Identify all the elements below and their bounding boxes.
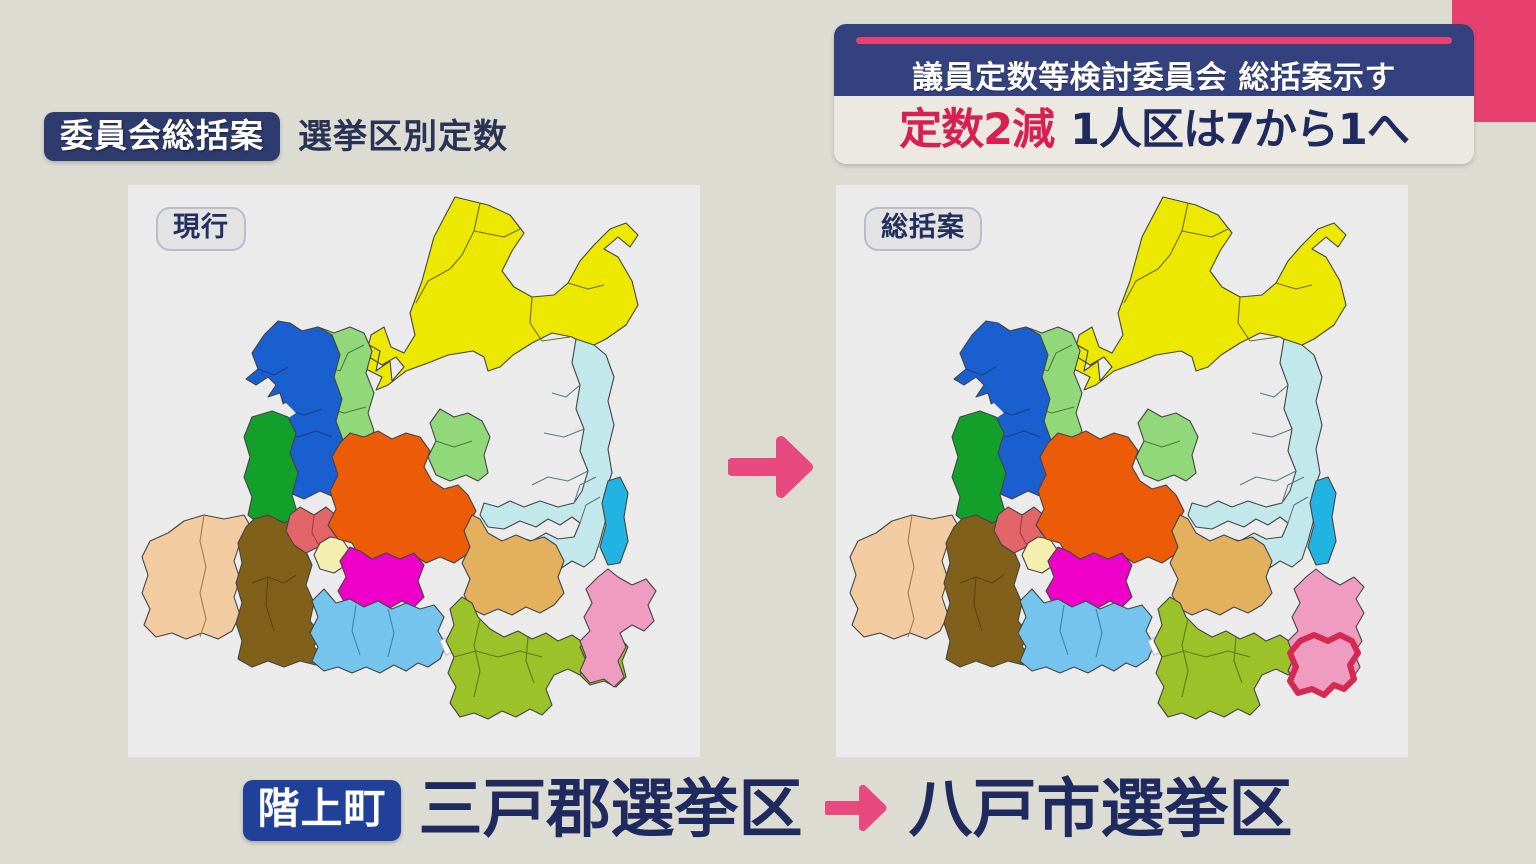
region-shimokita-div5 [1250,337,1278,341]
broadcast-graphic: 議員定数等検討委員会 総括案示す 定数2減 1人区は7から1へ 委員会総括案 選… [0,0,1536,864]
section-title-chip: 委員会総括案 [44,112,280,161]
region-nishitsugaru-peach [850,515,960,639]
region-towada-tan [1170,515,1272,615]
region-towada-tan [462,515,564,615]
caption-town-chip: 階上町 [243,780,400,841]
proposal-map-panel: 総括案 [836,185,1408,757]
region-shimokita-div5 [542,337,570,341]
current-map-panel: 現行 [128,185,700,757]
region-hachinohe-pink [580,569,656,687]
headline-card: 議員定数等検討委員会 総括案示す 定数2減 1人区は7から1へ [834,24,1474,164]
region-nishitsugaru-peach [142,515,252,639]
headline-main-navy: 1人区は7から1へ [1070,109,1409,152]
current-map-badge: 現行 [156,207,246,251]
region-ajigasawa-green [952,411,1006,525]
headline-main-row: 定数2減 1人区は7から1へ [834,96,1474,164]
caption-from-district: 三戸郡選挙区 [419,778,803,842]
region-kamikita-div1 [1260,385,1288,397]
headline-kicker-bar: 議員定数等検討委員会 総括案示す [834,24,1474,96]
bottom-caption: 階上町 三戸郡選挙区 八戸市選挙区 [0,768,1536,852]
section-title-subtitle: 選挙区別定数 [298,120,508,154]
arrow-right-icon [728,436,813,498]
headline-kicker-text: 議員定数等検討委員会 総括案示す [912,63,1396,94]
region-hirakawa-skyblue [1018,589,1154,673]
current-map-graphic [128,185,700,757]
kicker-rule [856,37,1452,44]
region-kamikita-div2 [1252,429,1292,437]
region-kamikita [1188,339,1322,571]
region-kamikita-div3 [1240,471,1296,485]
region-kamikita-div2 [544,429,584,437]
region-kamikita-div1 [552,385,580,397]
proposal-map-graphic [836,185,1408,757]
region-kamikita [480,339,614,571]
region-hashikami-highlighted [1290,635,1358,695]
caption-to-district: 八戸市選挙区 [909,778,1293,842]
region-kamikita-div3 [532,471,588,485]
section-title: 委員会総括案 選挙区別定数 [44,112,508,161]
transition-arrow [728,432,816,502]
headline-main-red: 定数2減 [899,109,1054,152]
caption-arrow-icon [825,782,887,838]
region-hirakawa-skyblue [310,589,446,673]
region-ajigasawa-green [244,411,298,525]
proposal-map-badge: 総括案 [864,207,982,251]
